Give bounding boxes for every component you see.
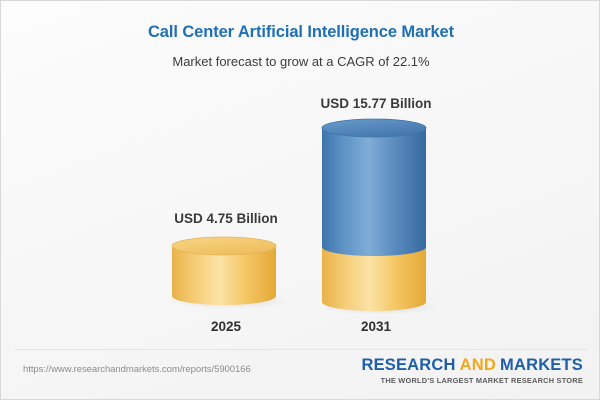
logo-word-and: AND [460,356,496,374]
research-and-markets-logo[interactable]: RESEARCHANDMARKETS THE WORLD'S LARGEST M… [361,356,583,386]
bar-top-2031 [322,119,426,137]
bar-segment-growth-2031 [322,128,426,256]
bar-top-2025 [172,237,276,255]
footer: https://www.researchandmarkets.com/repor… [1,350,600,399]
bar-cylinder-2025[interactable] [171,239,281,311]
logo-wordmark: RESEARCHANDMARKETS [361,356,583,374]
bar-segment-base-2031 [322,247,426,311]
plot-area: USD 4.75 Billion [1,1,600,349]
category-label-2031: 2031 [256,319,496,334]
logo-tagline: THE WORLD'S LARGEST MARKET RESEARCH STOR… [361,376,583,386]
logo-word-markets: MARKETS [500,356,583,374]
bar-cylinder-2031[interactable] [321,119,433,311]
chart-card: Call Center Artificial Intelligence Mark… [0,0,600,400]
value-label-2031: USD 15.77 Billion [256,96,496,111]
value-label-2025: USD 4.75 Billion [106,211,346,226]
report-url[interactable]: https://www.researchandmarkets.com/repor… [23,364,251,375]
logo-word-research: RESEARCH [361,356,455,374]
